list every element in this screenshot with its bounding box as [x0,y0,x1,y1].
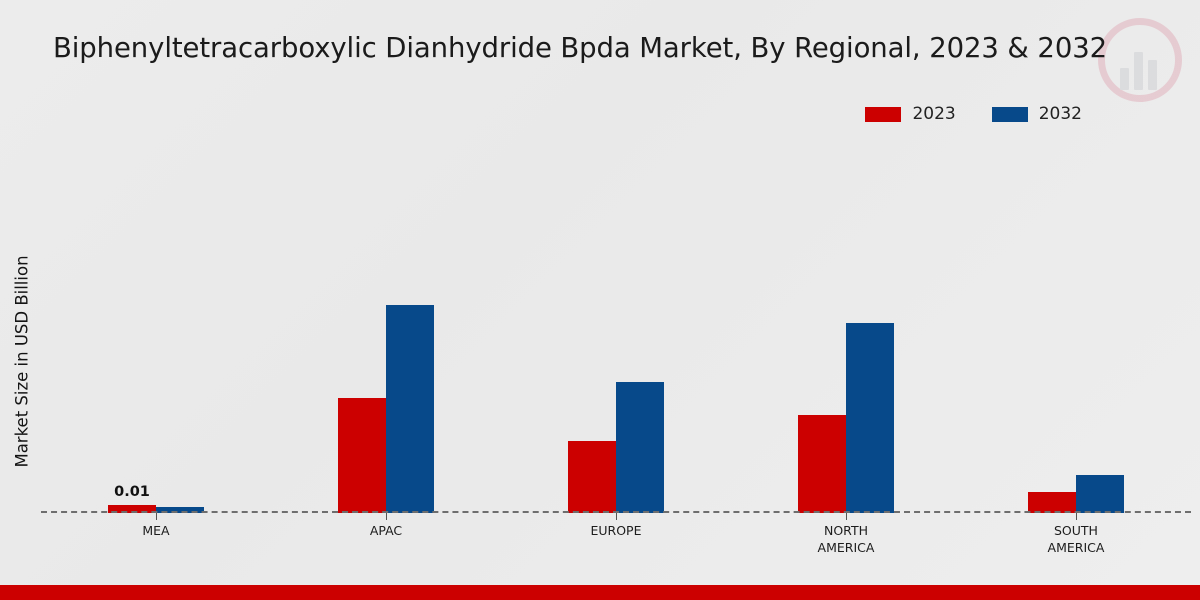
y-axis-title: Market Size in USD Billion [13,197,32,527]
bar-2023-apac[interactable] [338,398,386,513]
bar-2032-south-america[interactable] [1076,475,1124,513]
x-axis-label-europe: EUROPE [590,523,641,540]
chart-title: Biphenyltetracarboxylic Dianhydride Bpda… [53,33,1107,65]
plot-area: 0.01 [41,150,1191,513]
bar-2032-north-america[interactable] [846,323,894,513]
bar-pair [338,305,434,513]
x-tick-mark [1076,513,1077,520]
watermark-bar-icon [1148,60,1157,90]
bar-2032-apac[interactable] [386,305,434,513]
bar-groups: 0.01 [41,150,1191,513]
bar-2023-north-america[interactable] [798,415,846,513]
x-tick-cell: APAC [271,513,501,575]
bar-group-north-america [731,150,961,513]
bar-group-south-america [961,150,1191,513]
legend-item-2023[interactable]: 2023 [865,104,955,124]
bar-pair [568,382,664,513]
x-axis-ticks: MEAAPACEUROPENORTH AMERICASOUTH AMERICA [41,513,1191,575]
x-tick-cell: NORTH AMERICA [731,513,961,575]
x-tick-cell: EUROPE [501,513,731,575]
bar-value-label: 0.01 [114,484,150,500]
footer-accent-bar [0,585,1200,600]
x-axis-label-south-america: SOUTH AMERICA [1048,523,1105,557]
watermark-bar-icon [1134,52,1143,90]
legend-swatch-icon [992,107,1028,122]
x-tick-cell: MEA [41,513,271,575]
x-tick-mark [616,513,617,520]
bar-2032-europe[interactable] [616,382,664,513]
bar-group-europe [501,150,731,513]
watermark-bar-icon [1120,68,1129,90]
x-tick-mark [846,513,847,520]
x-axis-label-north-america: NORTH AMERICA [818,523,875,557]
bar-2023-europe[interactable] [568,441,616,513]
legend-swatch-icon [865,107,901,122]
bar-group-apac [271,150,501,513]
x-tick-cell: SOUTH AMERICA [961,513,1191,575]
x-axis-label-mea: MEA [142,523,169,540]
chart-legend: 20232032 [865,104,1082,124]
x-tick-mark [156,513,157,520]
bar-pair [798,323,894,513]
bar-2023-south-america[interactable] [1028,492,1076,513]
legend-label: 2032 [1039,104,1082,124]
legend-label: 2023 [912,104,955,124]
legend-item-2032[interactable]: 2032 [992,104,1082,124]
chart-root: Biphenyltetracarboxylic Dianhydride Bpda… [0,0,1200,600]
x-tick-mark [386,513,387,520]
x-axis-label-apac: APAC [370,523,402,540]
watermark-circle-icon [1098,18,1182,102]
bar-pair [1028,475,1124,513]
bar-group-mea: 0.01 [41,150,271,513]
